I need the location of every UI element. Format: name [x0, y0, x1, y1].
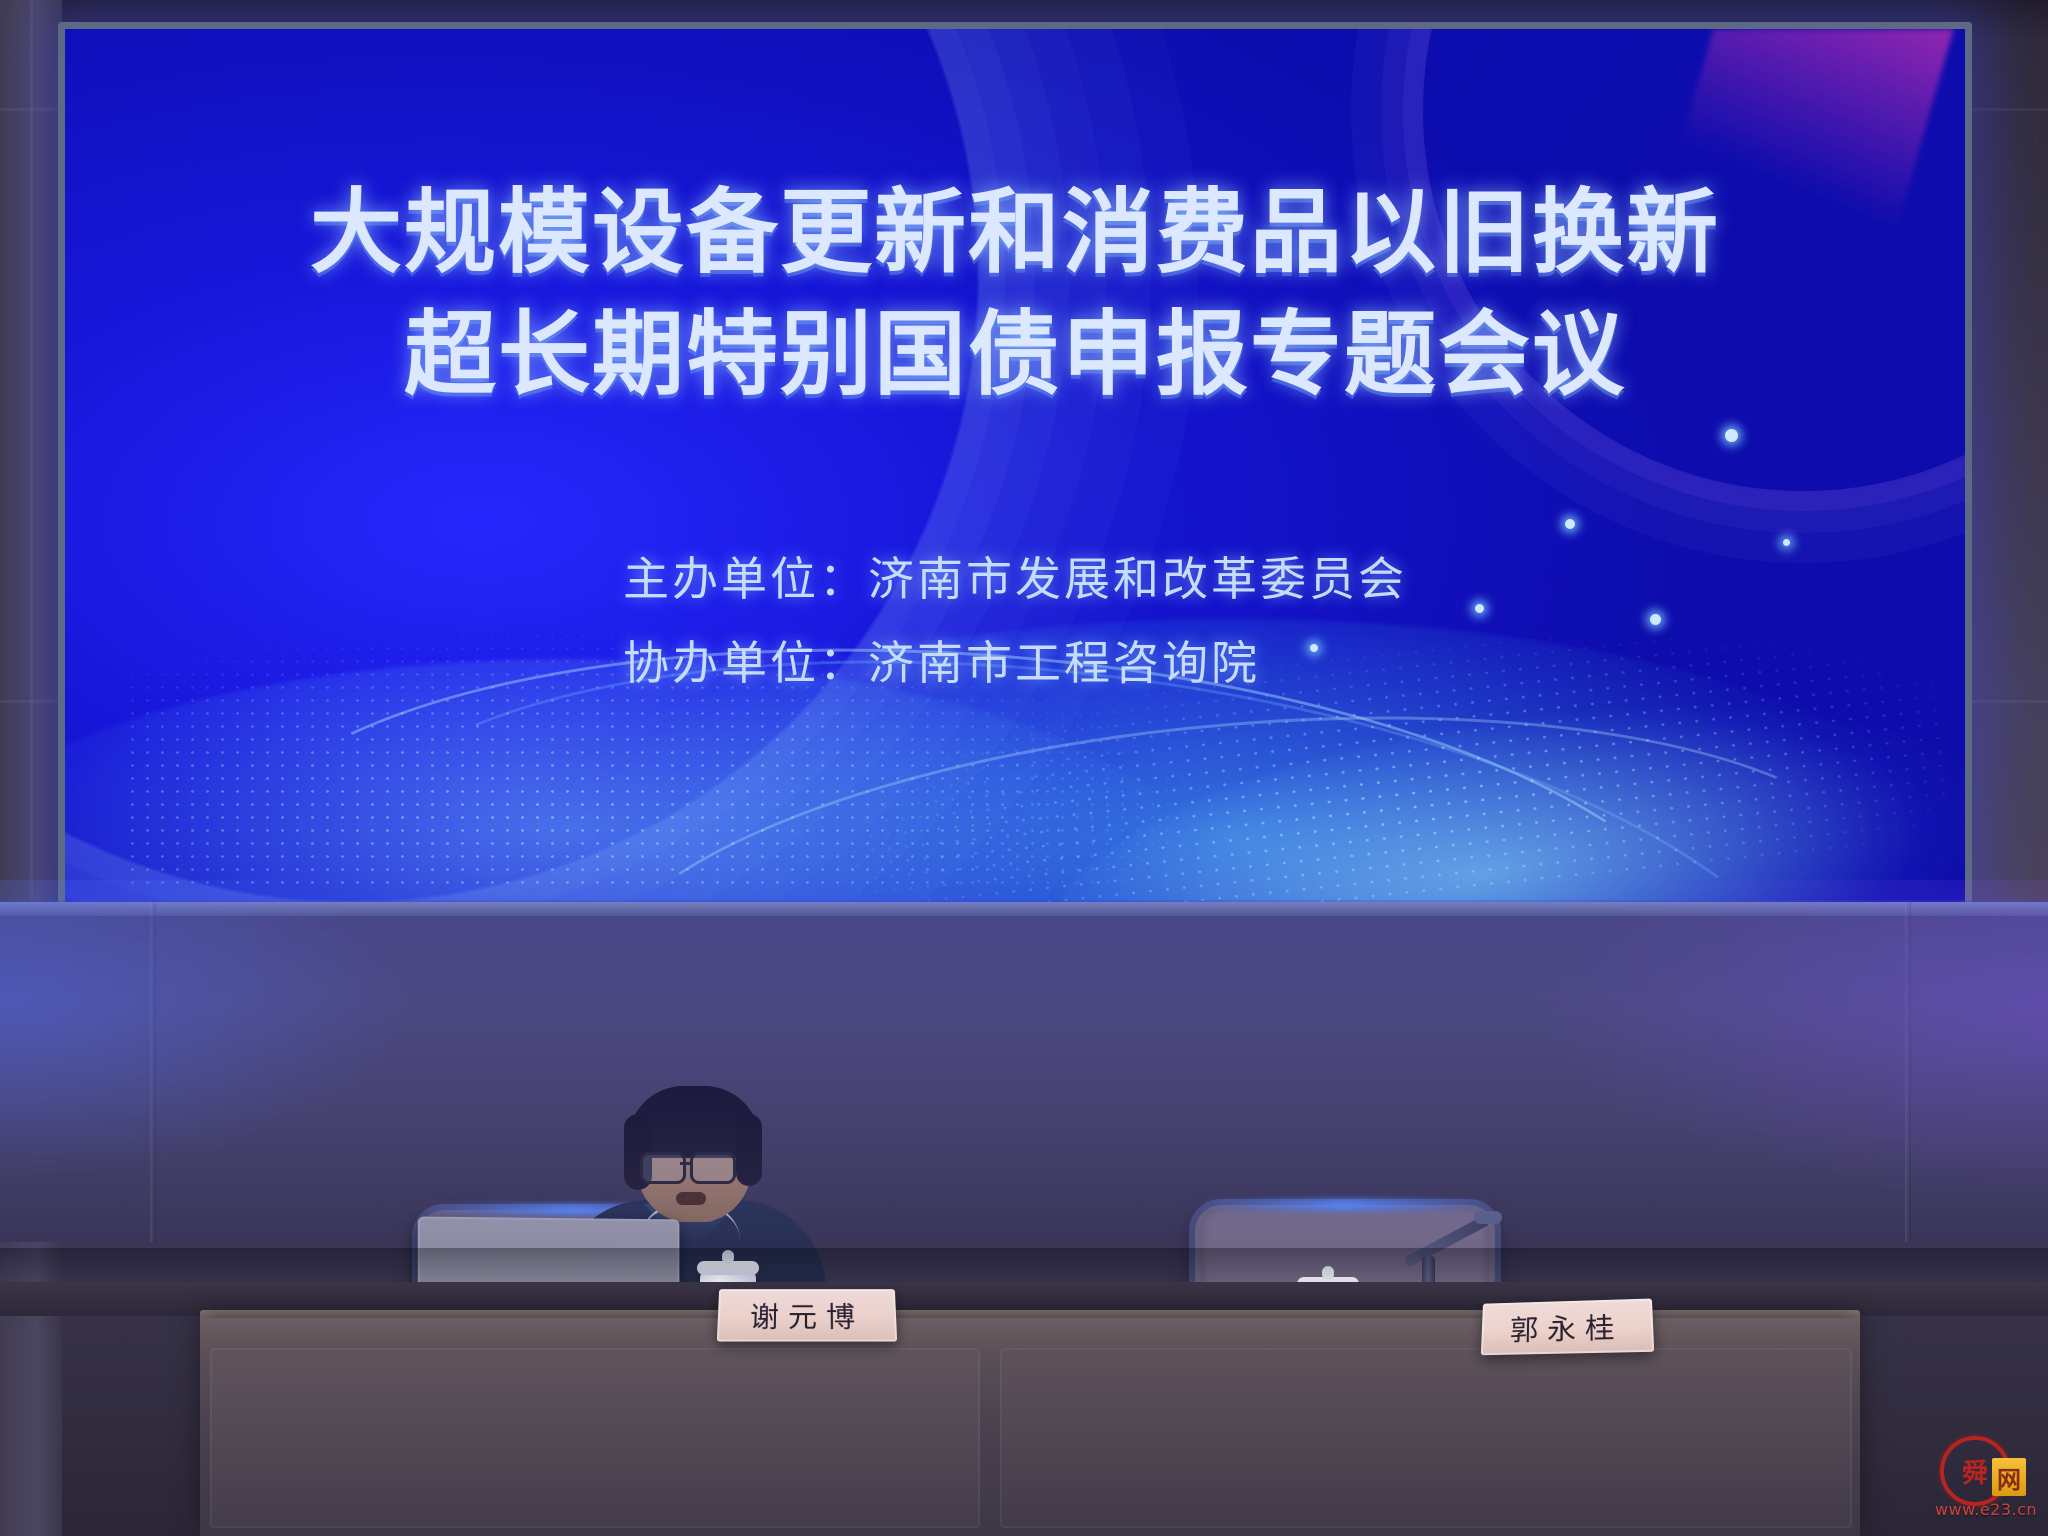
eyeglasses-lens-right — [690, 1152, 736, 1184]
slide-title-line1: 大规模设备更新和消费品以旧换新 — [310, 179, 1720, 286]
speaker-hair-side — [736, 1114, 762, 1186]
screen-glow-left — [0, 880, 420, 1180]
site-watermark: 舜 网 www.e23.cn — [1932, 1434, 2040, 1530]
speaker-mouth — [676, 1192, 706, 1205]
net-glyph-icon: 网 — [1992, 1458, 2026, 1496]
nameplate-left: 谢元博 — [717, 1289, 897, 1341]
slide-title-line2: 超长期特别国债申报专题会议 — [310, 299, 1720, 411]
watermark-url: www.e23.cn — [1932, 1500, 2040, 1519]
led-presentation-screen: 大规模设备更新和消费品以旧换新 超长期特别国债申报专题会议 主办单位：济南市发展… — [58, 22, 1972, 916]
slide-subtitle: 主办单位：济南市发展和改革委员会 协办单位：济南市工程咨询院 — [623, 537, 1407, 705]
screen-glow-right — [1528, 880, 2048, 1200]
slide-subtitle-line1: 主办单位：济南市发展和改革委员会 — [623, 537, 1407, 621]
eyeglasses-lens-left — [640, 1152, 686, 1184]
nameplate-right: 郭永桂 — [1481, 1299, 1654, 1356]
desk-front-panel-right — [1000, 1348, 1852, 1528]
slide-subtitle-line2: 协办单位：济南市工程咨询院 — [623, 621, 1407, 705]
desk-front-panel-left — [210, 1348, 980, 1528]
eyeglasses-bridge — [680, 1162, 692, 1165]
slide-title: 大规模设备更新和消费品以旧换新 超长期特别国债申报专题会议 — [310, 177, 1720, 411]
microphone-head — [1474, 1211, 1502, 1224]
photo-scene: 大规模设备更新和消费品以旧换新 超长期特别国债申报专题会议 主办单位：济南市发展… — [0, 0, 2048, 1536]
slide-text-container: 大规模设备更新和消费品以旧换新 超长期特别国债申报专题会议 主办单位：济南市发展… — [65, 29, 1965, 909]
